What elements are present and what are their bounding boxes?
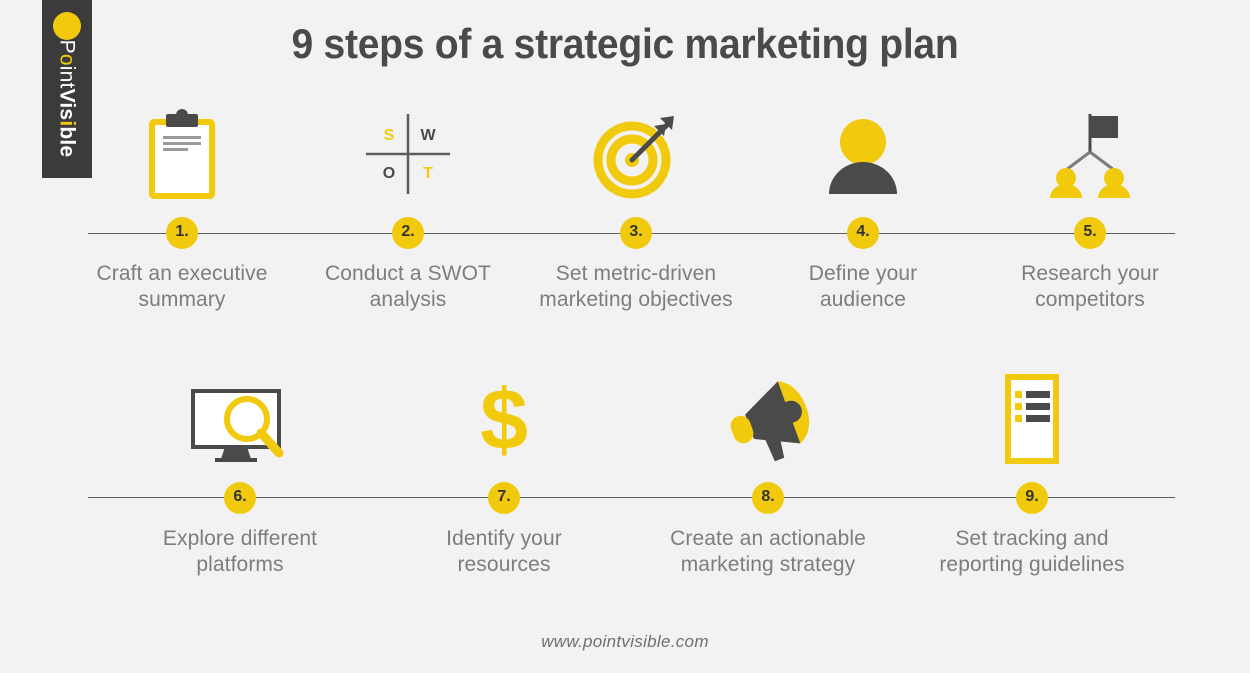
logo-int: int — [56, 66, 79, 89]
step-label-3-line2: marketing objectives — [531, 287, 741, 313]
step-1[interactable]: 1. Craft an executive summary — [77, 95, 287, 313]
step-label-4-line1: Define your — [758, 261, 968, 287]
step-label-1-line2: summary — [77, 287, 287, 313]
svg-text:S: S — [384, 127, 395, 144]
step-badge-8[interactable]: 8. — [752, 482, 784, 514]
step-label-2-line2: analysis — [303, 287, 513, 313]
step-label-6: Explore different platforms — [135, 526, 345, 578]
step-4[interactable]: 4. Define your audience — [758, 95, 968, 313]
step-9[interactable]: 9. Set tracking and reporting guidelines — [927, 360, 1137, 578]
step-number-2: 2. — [401, 224, 414, 240]
checklist-document-icon — [927, 360, 1137, 478]
page-title: 9 steps of a strategic marketing plan — [44, 20, 1207, 68]
step-number-9: 9. — [1025, 489, 1038, 505]
svg-text:W: W — [420, 127, 436, 144]
logo-ble: ble — [56, 126, 79, 157]
step-label-8-line2: marketing strategy — [663, 552, 873, 578]
step-number-4: 4. — [856, 224, 869, 240]
step-label-9-line2: reporting guidelines — [927, 552, 1137, 578]
footer-url[interactable]: www.pointvisible.com — [0, 632, 1250, 652]
step-number-5: 5. — [1083, 224, 1096, 240]
step-label-3-line1: Set metric-driven — [531, 261, 741, 287]
step-badge-2[interactable]: 2. — [392, 217, 424, 249]
step-7[interactable]: $ 7. Identify your resources — [399, 360, 609, 578]
step-label-1: Craft an executive summary — [77, 261, 287, 313]
step-number-1: 1. — [175, 224, 188, 240]
svg-text:O: O — [383, 165, 395, 182]
step-label-6-line1: Explore different — [135, 526, 345, 552]
step-8[interactable]: 8. Create an actionable marketing strate… — [663, 360, 873, 578]
step-label-9: Set tracking and reporting guidelines — [927, 526, 1137, 578]
svg-text:$: $ — [480, 373, 528, 465]
step-badge-9[interactable]: 9. — [1016, 482, 1048, 514]
target-arrow-icon — [531, 95, 741, 213]
step-label-7-line2: resources — [399, 552, 609, 578]
step-label-4-line2: audience — [758, 287, 968, 313]
logo-is: is — [56, 102, 79, 120]
step-label-8-line1: Create an actionable — [663, 526, 873, 552]
step-label-2-line1: Conduct a SWOT — [303, 261, 513, 287]
step-label-5: Research your competitors — [985, 261, 1195, 313]
clipboard-icon — [77, 95, 287, 213]
org-chart-flag-icon — [985, 95, 1195, 213]
step-label-8: Create an actionable marketing strategy — [663, 526, 873, 578]
step-badge-5[interactable]: 5. — [1074, 217, 1106, 249]
megaphone-icon — [663, 360, 873, 478]
step-label-7-line1: Identify your — [399, 526, 609, 552]
step-number-6: 6. — [233, 489, 246, 505]
step-badge-7[interactable]: 7. — [488, 482, 520, 514]
step-badge-6[interactable]: 6. — [224, 482, 256, 514]
step-badge-1[interactable]: 1. — [166, 217, 198, 249]
step-3[interactable]: 3. Set metric-driven marketing objective… — [531, 95, 741, 313]
step-label-9-line1: Set tracking and — [927, 526, 1137, 552]
step-label-5-line1: Research your — [985, 261, 1195, 287]
step-label-1-line1: Craft an executive — [77, 261, 287, 287]
step-label-6-line2: platforms — [135, 552, 345, 578]
step-2[interactable]: S W O T 2. Conduct a SWOT analysis — [303, 95, 513, 313]
monitor-search-icon — [135, 360, 345, 478]
step-label-3: Set metric-driven marketing objectives — [531, 261, 741, 313]
dollar-sign-icon: $ — [399, 360, 609, 478]
step-label-7: Identify your resources — [399, 526, 609, 578]
step-label-4: Define your audience — [758, 261, 968, 313]
step-label-2: Conduct a SWOT analysis — [303, 261, 513, 313]
logo-v: V — [56, 89, 79, 103]
svg-text:T: T — [423, 165, 433, 182]
step-6[interactable]: 6. Explore different platforms — [135, 360, 345, 578]
step-label-5-line2: competitors — [985, 287, 1195, 313]
step-number-8: 8. — [761, 489, 774, 505]
step-badge-3[interactable]: 3. — [620, 217, 652, 249]
step-number-7: 7. — [497, 489, 510, 505]
person-icon — [758, 95, 968, 213]
step-5[interactable]: 5. Research your competitors — [985, 95, 1195, 313]
step-number-3: 3. — [629, 224, 642, 240]
swot-grid-icon: S W O T — [303, 95, 513, 213]
step-badge-4[interactable]: 4. — [847, 217, 879, 249]
